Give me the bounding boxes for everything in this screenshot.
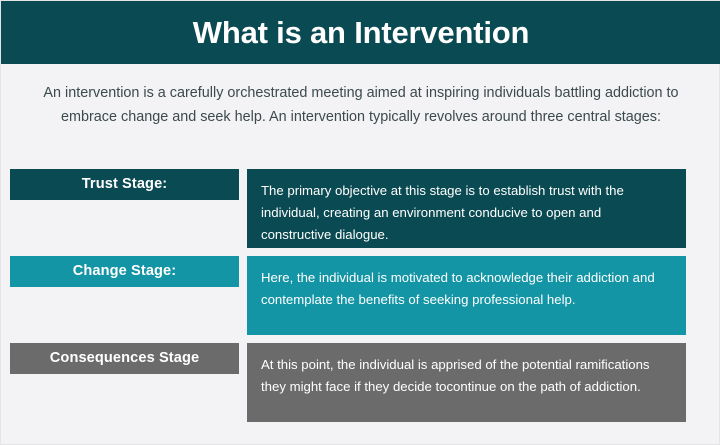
infographic-page: What is an Intervention An intervention …	[0, 0, 720, 445]
stage-label-consequences: Consequences Stage	[10, 343, 239, 374]
page-title: What is an Intervention	[193, 17, 529, 48]
stage-label-change: Change Stage:	[10, 256, 239, 287]
stage-label-text: Trust Stage:	[82, 177, 168, 192]
stage-row: Trust Stage: The primary objective at th…	[1, 169, 720, 256]
stage-description: The primary objective at this stage is t…	[261, 180, 672, 246]
stage-label-text: Consequences Stage	[50, 351, 199, 366]
header-band: What is an Intervention	[1, 1, 720, 64]
stage-panel-consequences: At this point, the individual is apprise…	[247, 343, 686, 422]
stage-panel-change: Here, the individual is motivated to ack…	[247, 256, 686, 335]
stage-panel-trust: The primary objective at this stage is t…	[247, 169, 686, 248]
stage-row: Change Stage: Here, the individual is mo…	[1, 256, 720, 343]
stage-label-text: Change Stage:	[73, 264, 176, 279]
intro-paragraph: An intervention is a carefully orchestra…	[27, 81, 695, 129]
stage-list: Trust Stage: The primary objective at th…	[1, 169, 720, 430]
stage-description: At this point, the individual is apprise…	[261, 354, 672, 398]
stage-label-trust: Trust Stage:	[10, 169, 239, 200]
stage-row: Consequences Stage At this point, the in…	[1, 343, 720, 430]
stage-description: Here, the individual is motivated to ack…	[261, 267, 672, 311]
